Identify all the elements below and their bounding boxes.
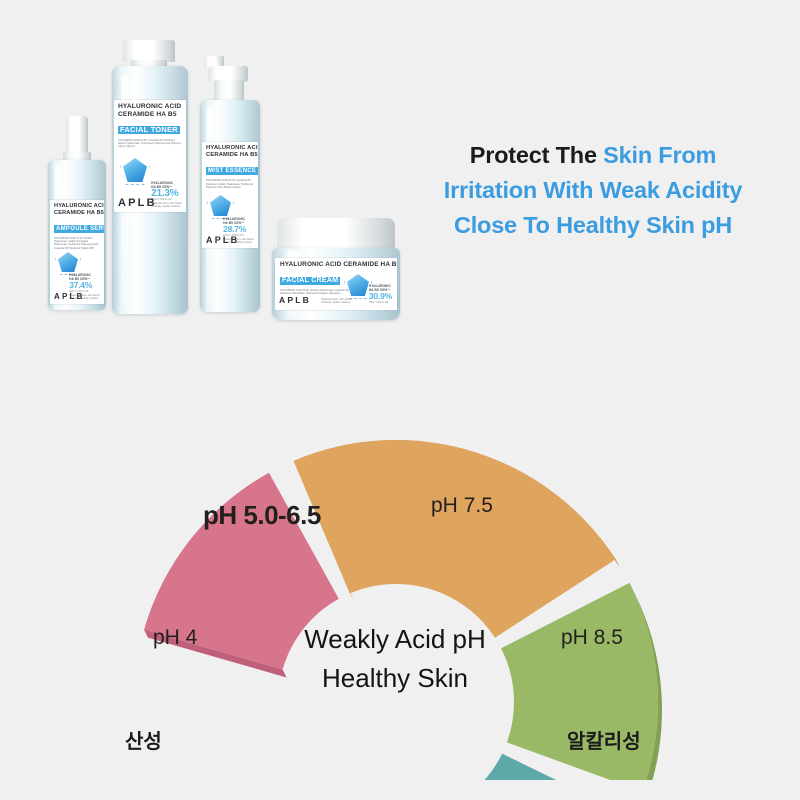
headline: Protect The Skin From Irritation With We… [398, 138, 788, 243]
product-lineup: HYALURONIC ACID CERAMIDE HA B5 AMPOULE S… [0, 0, 420, 350]
mist-brand-block: APLB [206, 235, 239, 245]
ph-segment-label-2: pH 7.5 [431, 494, 493, 518]
toner-cap [123, 40, 175, 62]
chart-center-line-2: Healthy Skin [90, 659, 700, 698]
headline-line-1-blue: Skin From [603, 142, 716, 168]
serum-title-line1: HYALURONIC ACID [54, 203, 100, 210]
toner-fine-print: HYALURONIC ACID 21.3%, Ceramide NP, Pant… [118, 139, 182, 149]
dropper-cap [66, 116, 88, 154]
serum-percent: 37.4% [69, 281, 100, 290]
mist-brand: APLB [206, 235, 239, 245]
cream-brand: APLB [279, 295, 311, 305]
serum-brand-block: APLB [54, 292, 85, 301]
mist-title-line1: HYALURONIC ACID [206, 145, 254, 152]
cream-title-line1: HYALURONIC ACID CERAMIDE HA B5 [280, 261, 392, 269]
headline-line-1: Protect The Skin From [398, 138, 788, 173]
cream-claim-2: Ceramide, healthy moisture [321, 301, 352, 304]
ph-segment-label-1: pH 5.0-6.5 [203, 500, 321, 531]
serum-fine-print: HYALURONIC ACID 37.4% (Sodium Hyaluronat… [54, 237, 100, 250]
ph-arc-svg [95, 380, 705, 780]
toner-brand-block: APLB [118, 197, 157, 209]
headline-line-1-dark: Protect The [470, 142, 603, 168]
serum-brand: APLB [54, 292, 85, 301]
mist-percent: 28.7% [223, 225, 254, 234]
cream-brand-block: APLB [279, 295, 311, 305]
toner-brand: APLB [118, 197, 157, 209]
cream-volume: 55ml / 1.85 FL.OZ. [369, 301, 392, 304]
toner-title-line2: CERAMIDE HA B5 [118, 111, 182, 119]
serum-title-line2: CERAMIDE HA B5 [54, 210, 100, 217]
headline-line-3: Close To Healthy Skin pH [398, 208, 788, 243]
headline-line-2: Irritation With Weak Acidity [398, 173, 788, 208]
cream-subtitle: FACIAL CREAM [280, 277, 340, 285]
ph-segment-1[interactable] [294, 440, 616, 638]
mist-title-line2: CERAMIDE HA B5 [206, 152, 254, 159]
jar-lid [277, 218, 395, 252]
chart-center-line-1: Weakly Acid pH [90, 620, 700, 659]
axis-label-alkaline: 알칼리성 [567, 725, 641, 754]
mist-label: HYALURONIC ACID CERAMIDE HA B5 MIST ESSE… [202, 142, 258, 248]
cream-percent-block: HYALURONIC HA B5 CEN™ 30.9% 55ml / 1.85 … [369, 284, 392, 304]
ha-pentagon-icon [347, 274, 369, 296]
serum-label: HYALURONIC ACID CERAMIDE HA B5 AMPOULE S… [50, 200, 104, 304]
axis-label-acidic: 산성 [125, 725, 162, 754]
mist-subtitle: MIST ESSENCE [206, 167, 258, 175]
ha-pentagon-icon [210, 195, 231, 216]
toner-subtitle: FACIAL TONER [118, 126, 180, 134]
toner-label: HYALURONIC ACID CERAMIDE HA B5 FACIAL TO… [114, 100, 186, 212]
sprayer-collar [214, 80, 244, 102]
ha-pentagon-icon [58, 252, 78, 272]
cream-label: HYALURONIC ACID CERAMIDE HA B5 FACIAL CR… [275, 258, 397, 310]
toner-title-line1: HYALURONIC ACID [118, 103, 182, 111]
ha-pentagon-icon [123, 158, 147, 182]
cream-claims: Hyaluronic acid + skin barrier Ceramide,… [321, 298, 352, 304]
mist-fine-print: HYALURONIC ACID 28.7%, Ceramide NP, Pant… [206, 179, 254, 189]
ph-scale-chart: pH 4 pH 5.0-6.5 pH 7.5 pH 8.5 Weakly Aci… [95, 380, 705, 780]
cream-percent: 30.9% [369, 292, 392, 301]
poster-root: Protect The Skin From Irritation With We… [0, 0, 800, 800]
serum-subtitle: AMPOULE SERUM [54, 225, 104, 233]
